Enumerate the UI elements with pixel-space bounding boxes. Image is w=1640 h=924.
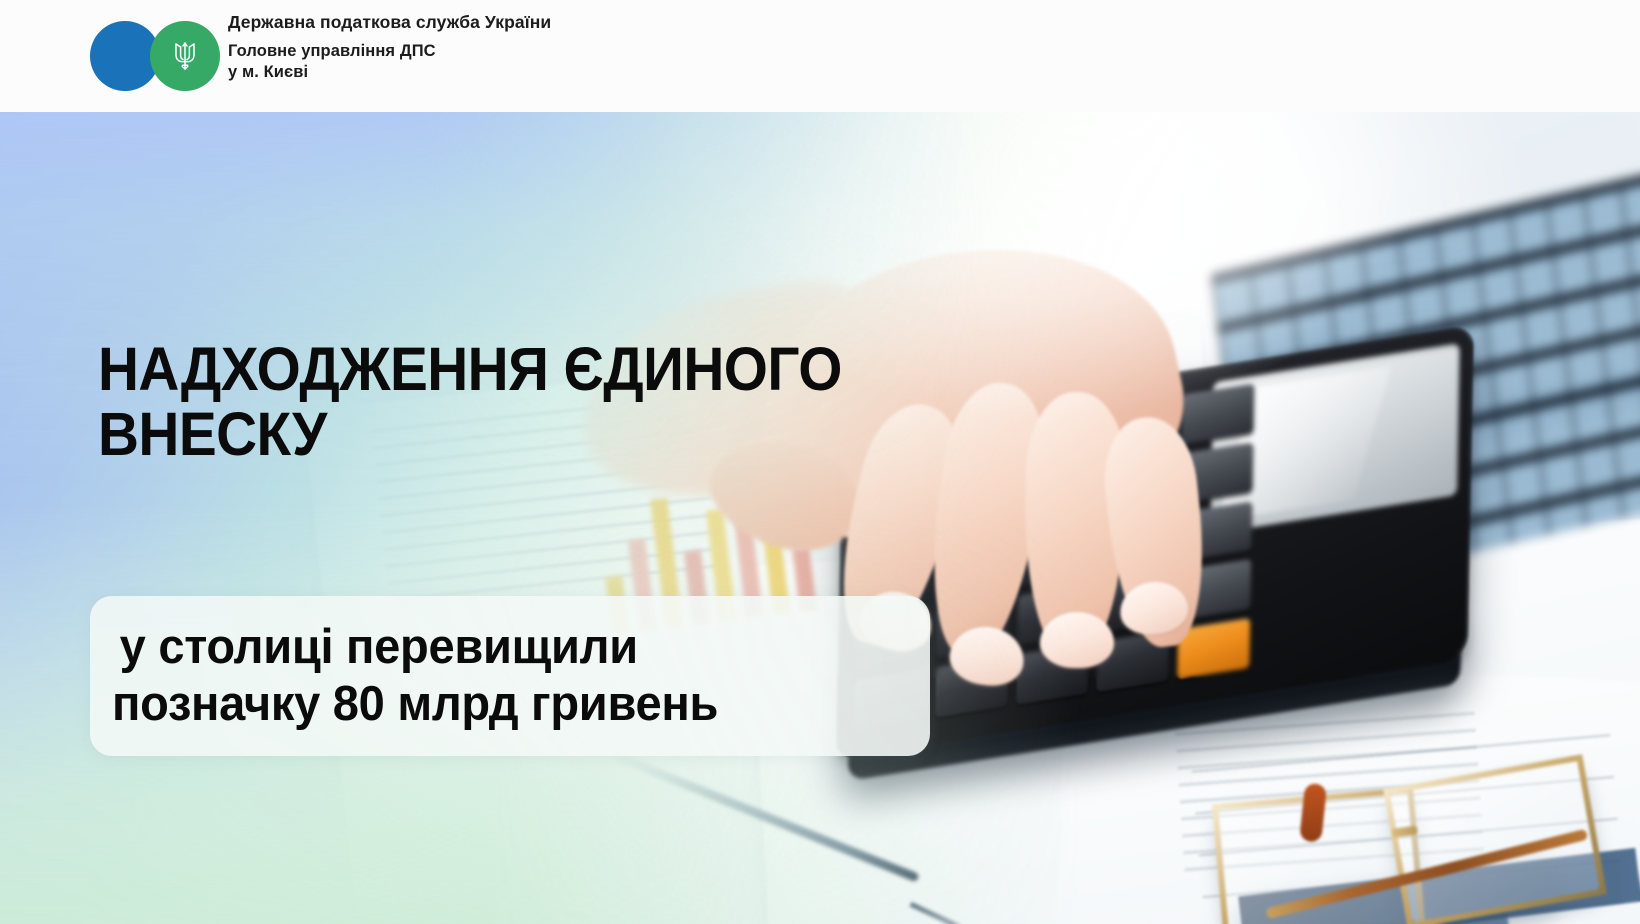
subtitle-line-1: у столиці перевищили	[112, 619, 876, 676]
subtitle-line-2: позначку 80 млрд гривень	[112, 676, 876, 733]
fingernail	[1040, 612, 1114, 668]
subtitle-card: у столиці перевищили позначку 80 млрд гр…	[90, 596, 930, 756]
agency-logo	[90, 21, 220, 91]
agency-name-city: у м. Києві	[228, 64, 551, 81]
headline-line-2: ВНЕСКУ	[98, 402, 898, 467]
headline-line-1: НАДХОДЖЕННЯ ЄДИНОГО	[98, 337, 898, 402]
agency-name-department: Головне управління ДПС	[228, 43, 551, 60]
page-title: НАДХОДЖЕННЯ ЄДИНОГО ВНЕСКУ	[98, 337, 898, 468]
hero-banner: НАДХОДЖЕННЯ ЄДИНОГО ВНЕСКУ у столиці пер…	[0, 112, 1640, 924]
agency-title-block: Державна податкова служба України Головн…	[228, 14, 551, 81]
background-photo	[0, 112, 1640, 924]
agency-name-primary: Державна податкова служба України	[228, 14, 551, 32]
site-header: Державна податкова служба України Головн…	[0, 0, 1640, 112]
banner-page: Державна податкова служба України Головн…	[0, 0, 1640, 924]
trident-emblem-icon	[150, 21, 220, 91]
